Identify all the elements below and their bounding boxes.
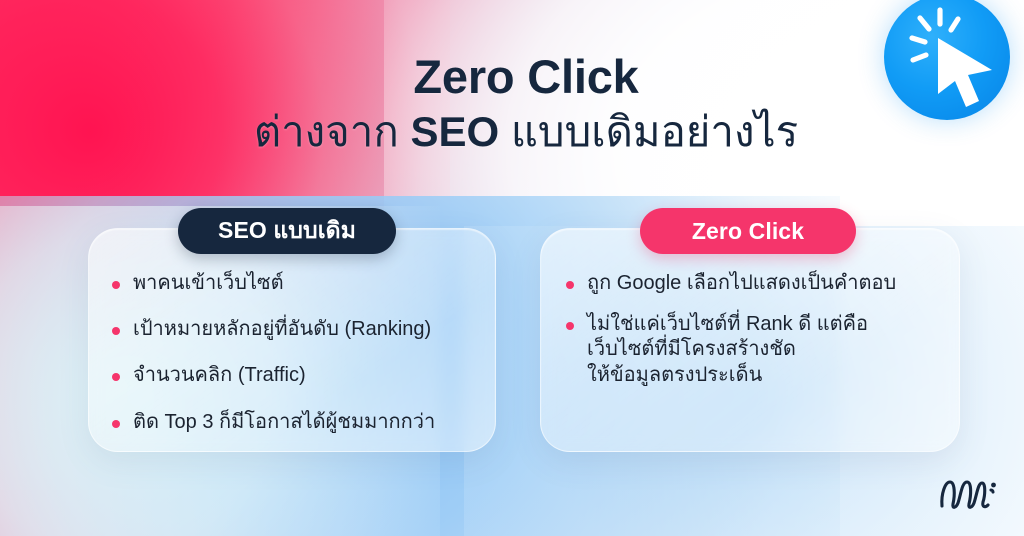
list-item-line: จำนวนคลิก (Traffic) xyxy=(133,363,484,388)
badge-zero-click: Zero Click xyxy=(640,208,856,254)
list-item-line: ไม่ใช่แค่เว็บไซต์ที่ Rank ดี แต่คือ xyxy=(587,312,952,337)
infographic-canvas: Zero Click ต่างจาก SEO แบบเดิมอย่างไร SE… xyxy=(0,0,1024,536)
brand-script-m-logo xyxy=(936,470,998,516)
list-item: ติด Top 3 ก็มีโอกาสได้ผู้ชมมากกว่า xyxy=(112,410,484,435)
headline-line-2-suffix: แบบเดิมอย่างไร xyxy=(499,108,798,155)
bullet-list-zero-click: ถูก Google เลือกไปแสดงเป็นคำตอบ ไม่ใช่แค… xyxy=(566,271,952,404)
list-item-line: เป้าหมายหลักอยู่ที่อันดับ (Ranking) xyxy=(133,317,484,342)
headline-line-1: Zero Click xyxy=(188,52,864,102)
list-item-line: ถูก Google เลือกไปแสดงเป็นคำตอบ xyxy=(587,271,952,296)
headline-line-2-prefix: ต่างจาก xyxy=(254,108,411,155)
click-cursor-icon xyxy=(884,0,1010,120)
headline-line-2: ต่างจาก SEO แบบเดิมอย่างไร xyxy=(188,110,864,155)
list-item: พาคนเข้าเว็บไซต์ xyxy=(112,271,484,296)
headline-line-2-strong: SEO xyxy=(410,108,499,155)
list-item-line: ติด Top 3 ก็มีโอกาสได้ผู้ชมมากกว่า xyxy=(133,410,484,435)
list-item: จำนวนคลิก (Traffic) xyxy=(112,363,484,388)
list-item: ถูก Google เลือกไปแสดงเป็นคำตอบ xyxy=(566,271,952,296)
page-title: Zero Click ต่างจาก SEO แบบเดิมอย่างไร xyxy=(188,52,864,154)
badge-seo-traditional: SEO แบบเดิม xyxy=(178,208,396,254)
list-item: เป้าหมายหลักอยู่ที่อันดับ (Ranking) xyxy=(112,317,484,342)
list-item-line: พาคนเข้าเว็บไซต์ xyxy=(133,271,484,296)
bullet-list-seo-traditional: พาคนเข้าเว็บไซต์ เป้าหมายหลักอยู่ที่อันด… xyxy=(112,271,484,456)
list-item-line: เว็บไซต์ที่มีโครงสร้างชัด xyxy=(587,337,952,362)
list-item: ไม่ใช่แค่เว็บไซต์ที่ Rank ดี แต่คือ เว็บ… xyxy=(566,312,952,388)
list-item-line: ให้ข้อมูลตรงประเด็น xyxy=(587,363,952,388)
